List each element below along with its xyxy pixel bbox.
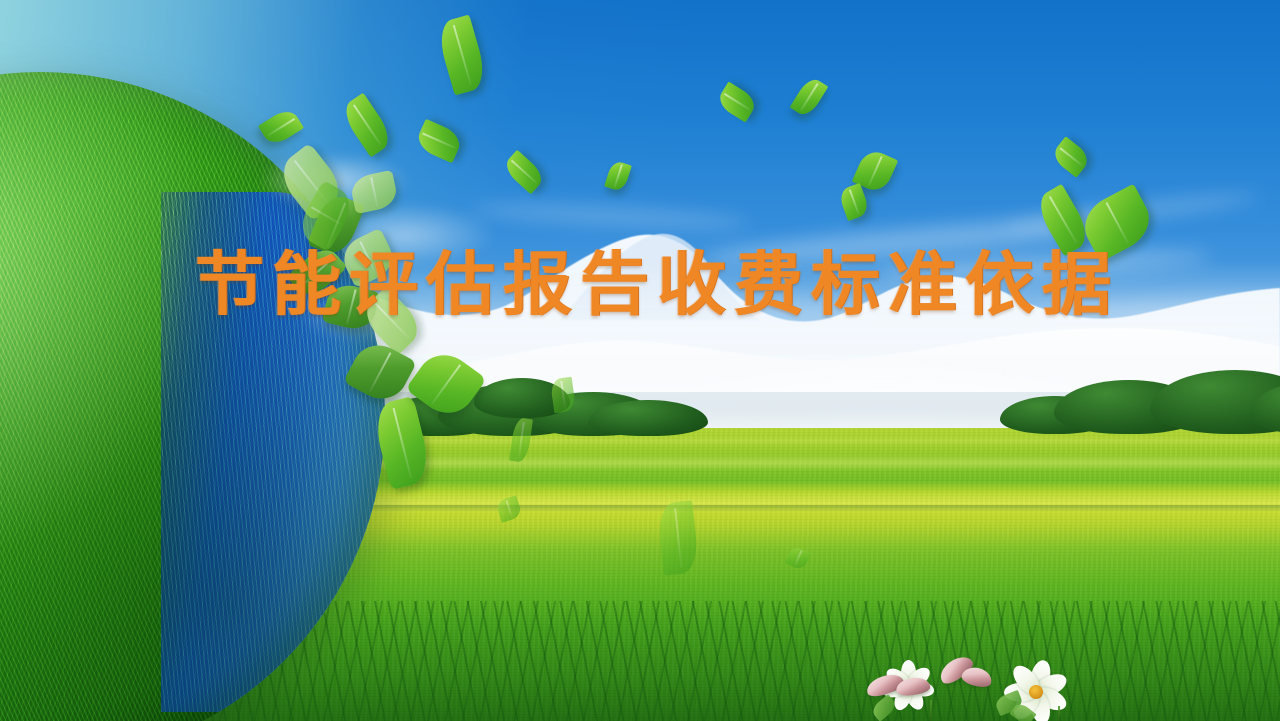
page-title: 节能评估报告收费标准依据	[195, 249, 1125, 321]
slide-canvas: 节能评估报告收费标准依据	[0, 0, 1280, 721]
flower-stem	[930, 700, 932, 721]
flower-stem	[1058, 706, 1060, 721]
flower-center	[1029, 685, 1043, 699]
treeline-right	[1000, 370, 1280, 432]
